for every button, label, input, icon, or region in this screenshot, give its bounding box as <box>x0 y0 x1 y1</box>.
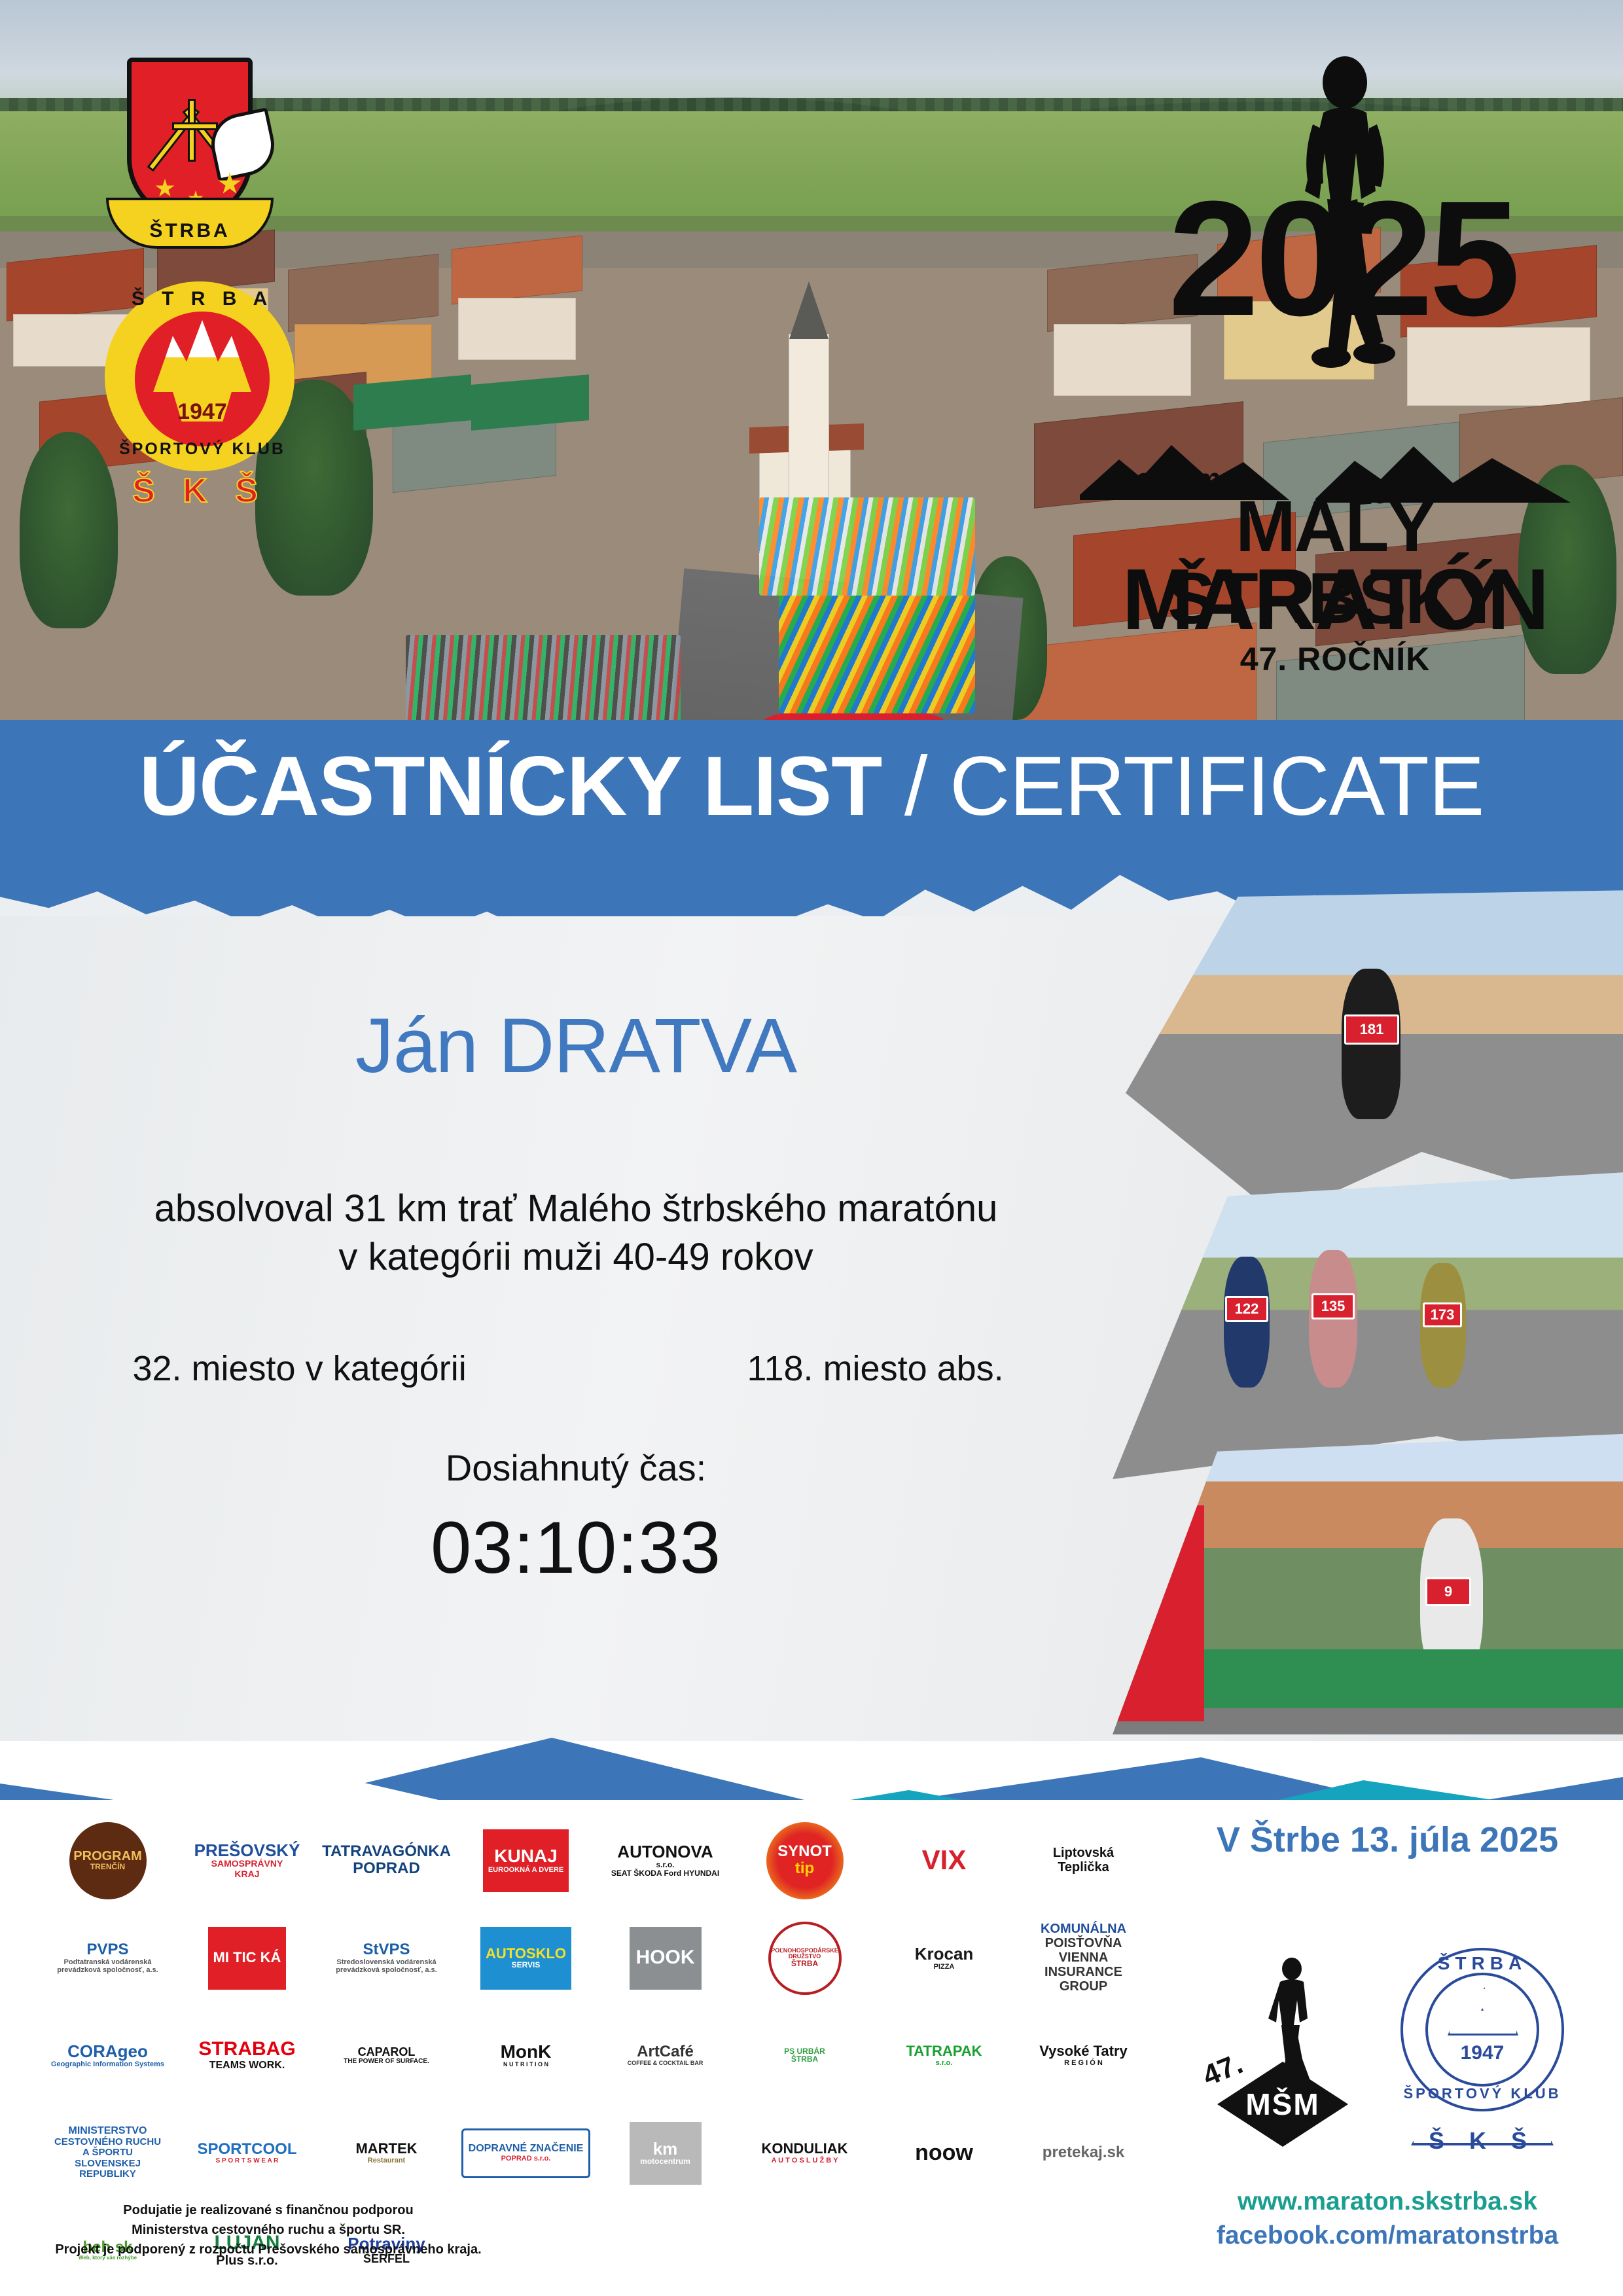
sponsor-name: VIX <box>922 1846 967 1874</box>
title-bold: ÚČASTNÍCKY LIST <box>139 740 882 833</box>
seal-mid-label: ŠPORTOVÝ KLUB <box>1387 2085 1577 2102</box>
sponsor-sub: ŠTRBA <box>791 1960 818 1968</box>
sponsor-sub: PIZZA <box>934 1963 955 1971</box>
event-title-line2: MARATÓN <box>1073 556 1597 643</box>
church-spire <box>789 281 829 339</box>
sponsor-sub: s.r.o. <box>936 2059 953 2067</box>
sponsor-mark: PVPSPodtatranská vodárenskáprevádzková s… <box>52 1938 163 1978</box>
bib-number: 122 <box>1225 1296 1268 1322</box>
place-absolute: 118. miesto abs. <box>599 1348 1152 1389</box>
sponsor-mark: MonKN U T R I T I O N <box>495 2039 557 2072</box>
event-year: 2025 <box>1084 177 1601 340</box>
sponsor-sub: motocentrum <box>640 2157 690 2166</box>
sponsor-name: km <box>653 2140 678 2158</box>
sponsor-logo-strabag: STRABAGTEAMS WORK. <box>179 2008 315 2103</box>
funding-credit: Podujatie je realizované s finančnou pod… <box>39 2200 497 2259</box>
sponsor-name: CORAgeo <box>67 2043 148 2060</box>
msm-edition: 47. <box>1198 2047 1247 2092</box>
sponsor-logo-ministerstvo: MINISTERSTVOCESTOVNÉHO RUCHUA ŠPORTUSLOV… <box>39 2106 176 2200</box>
title-separator: / <box>882 740 950 833</box>
sponsor-sub: POPRAD <box>353 1860 420 1877</box>
time-value: 03:10:33 <box>0 1505 1152 1590</box>
photo-collage: 181 122 135 173 MALÝ ŠTRBSKÝ MARATÓN 9 <box>1113 890 1623 1734</box>
sponsor-name: StVPS <box>363 1942 410 1958</box>
time-label: Dosiahnutý čas: <box>0 1446 1152 1489</box>
club-seal-logo: ŠTRBA 1947 ŠPORTOVÝ KLUB Š K Š <box>1387 1937 1577 2166</box>
cross-horizontal <box>172 122 218 130</box>
sponsor-sub: ŠTRBA <box>791 2055 818 2064</box>
sponsor-sub: THE POWER OF SURFACE. <box>344 2058 429 2065</box>
strba-coat-of-arms: ŠTRBA <box>105 46 275 262</box>
sponsor-mark: POĽNOHOSPODÁRSKE DRUŽSTVOŠTRBA <box>768 1922 842 1995</box>
sponsor-logo-presovsky-kraj: PREŠOVSKÝSAMOSPRÁVNYKRAJ <box>179 1813 315 1908</box>
msm-logo: 47. MŠM <box>1198 1944 1368 2166</box>
sponsor-mark: LiptovskáTeplička <box>1048 1842 1119 1878</box>
sponsor-sub: EUROOKNÁ A DVERE <box>488 1866 563 1874</box>
sponsor-mark: SPORTCOOLS P O R T S W E A R <box>192 2138 302 2168</box>
sponsor-mark: PS URBÁRŠTRBA <box>779 2043 830 2068</box>
sponsor-mark: Vysoké TatryR E G I Ó N <box>1034 2040 1133 2071</box>
sponsor-sub: Podtatranská vodárenská <box>64 1958 152 1966</box>
sponsor-mark: HOOK <box>630 1927 702 1990</box>
cross-vertical <box>188 99 196 162</box>
sponsor-footer: PROGRAMTRENČÍNPREŠOVSKÝSAMOSPRÁVNYKRAJTA… <box>0 1800 1623 2296</box>
sport-club-logo: Š T R B A 1947 ŠPORTOVÝ KLUB <box>105 281 294 471</box>
placement-row: 32. miesto v kategórii 118. miesto abs. <box>0 1348 1152 1389</box>
credit-line-2: Ministerstva cestovného ruchu a športu S… <box>39 2220 497 2240</box>
sponsor-logo-martek: MARTEKRestaurant <box>318 2106 455 2200</box>
sponsor-name: SYNOT <box>777 1844 832 1859</box>
sponsor-sub: N U T R I T I O N <box>503 2062 548 2068</box>
sponsor-sub2: VIENNA INSURANCE GROUP <box>1024 1950 1144 1994</box>
church-tower <box>789 334 829 511</box>
sponsor-mark: MARTEKRestaurant <box>350 2138 422 2168</box>
sponsor-name: Liptovská <box>1053 1846 1114 1859</box>
sponsor-name: MonK <box>501 2043 552 2062</box>
sponsor-mark: DOPRAVNÉ ZNAČENIEPOPRAD s.r.o. <box>461 2128 591 2178</box>
sponsor-mark: CAPAROLTHE POWER OF SURFACE. <box>338 2042 435 2069</box>
sponsor-sub: Teplička <box>1058 1860 1109 1874</box>
sponsor-name: PROGRAM <box>73 1850 141 1863</box>
sponsor-mark: SYNOTtip <box>766 1822 844 1899</box>
bib-number: 135 <box>1311 1293 1355 1319</box>
sponsor-mark: pretekaj.sk <box>1037 2141 1130 2164</box>
sponsor-logo-km-motocentrum: kmmotocentrum <box>597 2106 734 2200</box>
sponsor-sub: S P O R T S W E A R <box>216 2157 279 2164</box>
sponsor-name: KUNAJ <box>494 1847 557 1866</box>
seal-bottom-label: Š K Š <box>1387 2127 1577 2155</box>
page-title: ÚČASTNÍCKY LIST / CERTIFICATE <box>0 745 1623 829</box>
sponsor-logo-pd-strba: POĽNOHOSPODÁRSKE DRUŽSTVOŠTRBA <box>736 1910 873 2005</box>
sponsor-mark: PREŠOVSKÝSAMOSPRÁVNYKRAJ <box>189 1838 306 1883</box>
sponsor-sub: tip <box>795 1860 814 1877</box>
sponsor-mark: StVPSStredoslovenská vodárenskáprevádzko… <box>330 1938 442 1978</box>
sponsor-sub: A U T O S L U Ž B Y <box>772 2157 838 2164</box>
sponsor-logo-miticka: MI TIC KÁ <box>179 1910 315 2005</box>
sponsor-logo-caparol: CAPAROLTHE POWER OF SURFACE. <box>318 2008 455 2103</box>
description-line-1: absolvoval 31 km trať Malého štrbského m… <box>0 1185 1152 1233</box>
sponsor-logo-pvps: PVPSPodtatranská vodárenskáprevádzková s… <box>39 1910 176 2005</box>
seal-top-label: ŠTRBA <box>1387 1953 1577 1974</box>
sponsor-sub: COFFEE & COCKTAIL BAR <box>628 2060 704 2067</box>
sponsor-sub: s.r.o. <box>656 1861 674 1869</box>
sponsor-logo-vix: VIX <box>876 1813 1012 1908</box>
sponsor-name: CAPAROL <box>358 2046 416 2058</box>
sponsor-sub: SERVIS <box>512 1961 541 1969</box>
sponsor-sub2: KRAJ <box>234 1869 259 1879</box>
sponsor-name: MARTEK <box>355 2142 417 2156</box>
credit-line-3: Projekt je podporený z rozpočtu Prešovsk… <box>39 2240 497 2259</box>
title-light: CERTIFICATE <box>950 740 1484 833</box>
sponsor-sub2: A ŠPORTU <box>82 2147 133 2159</box>
sponsor-mark: TATRAPAKs.r.o. <box>901 2040 987 2071</box>
sponsor-sub: TRENČÍN <box>90 1863 125 1871</box>
sponsor-sub: POPRAD s.r.o. <box>501 2155 551 2162</box>
arm-holding <box>205 107 280 182</box>
sponsor-mark: AUTOSKLOSERVIS <box>480 1927 571 1990</box>
title-band: ÚČASTNÍCKY LIST / CERTIFICATE <box>0 720 1623 916</box>
sponsor-logo-hook: HOOK <box>597 1910 734 2005</box>
sponsor-name: PREŠOVSKÝ <box>194 1842 300 1859</box>
sponsor-logo-artcafe: ArtCaféCOFFEE & COCKTAIL BAR <box>597 2008 734 2103</box>
sponsor-logo-pretekaj: pretekaj.sk <box>1015 2106 1152 2200</box>
sponsor-mark: KONDULIAKA U T O S L U Ž B Y <box>757 2138 853 2168</box>
sponsor-name: TATRAPAK <box>906 2044 982 2058</box>
sponsor-mark: kmmotocentrum <box>630 2122 702 2185</box>
sponsor-logo-stvps: StVPSStredoslovenská vodárenskáprevádzko… <box>318 1910 455 2005</box>
sponsor-name: noow <box>915 2142 973 2164</box>
sponsor-name: PVPS <box>86 1942 128 1958</box>
sponsor-sub: SAMOSPRÁVNY <box>211 1859 283 1869</box>
sponsor-logo-ps-urbar-strba: PS URBÁRŠTRBA <box>736 2008 873 2103</box>
sponsor-logo-tatravagonka-poprad: TATRAVAGÓNKAPOPRAD <box>318 1813 455 1908</box>
sponsor-logo-vysoke-tatry: Vysoké TatryR E G I Ó N <box>1015 2008 1152 2103</box>
sponsor-name: Krocan <box>915 1945 974 1963</box>
bib-number: 9 <box>1425 1577 1471 1606</box>
facebook-link[interactable]: facebook.com/maratonstrba <box>1171 2221 1603 2250</box>
sponsor-name: DOPRAVNÉ ZNAČENIE <box>469 2144 584 2154</box>
photo-finisher-jump: 181 <box>1126 890 1623 1217</box>
sponsor-logo-monk-nutrition: MonKN U T R I T I O N <box>457 2008 594 2103</box>
sponsor-logo-kunaj: KUNAJEUROOKNÁ A DVERE <box>457 1813 594 1908</box>
sponsor-mark: TATRAVAGÓNKAPOPRAD <box>321 1840 452 1881</box>
msm-abbrev: MŠM <box>1245 2087 1319 2122</box>
sponsor-logo-krocan-pizza: KrocanPIZZA <box>876 1910 1012 2005</box>
bib-number: 173 <box>1423 1302 1462 1327</box>
sponsor-mark: MINISTERSTVOCESTOVNÉHO RUCHUA ŠPORTUSLOV… <box>43 2122 173 2183</box>
sponsor-name: Vysoké Tatry <box>1039 2044 1128 2058</box>
footer-right-column: V Štrbe 13. júla 2025 47. MŠM ŠTRBA <box>1171 1813 1603 2284</box>
sponsor-name: MINISTERSTVO <box>68 2126 147 2136</box>
sponsor-logo-program-trencin: PROGRAMTRENČÍN <box>39 1813 176 1908</box>
certificate-page: ŠTART ŠTRBA Š <box>0 0 1623 2296</box>
sponsor-name: MI TIC KÁ <box>213 1950 281 1965</box>
club-year: 1947 <box>107 399 297 425</box>
photo-runners-group: 122 135 173 <box>1113 1172 1623 1479</box>
sponsor-logo-sportcool: SPORTCOOLS P O R T S W E A R <box>179 2106 315 2200</box>
sponsor-sub: R E G I Ó N <box>1064 2059 1103 2067</box>
sponsor-name: POĽNOHOSPODÁRSKE DRUŽSTVO <box>771 1948 838 1960</box>
club-bottom-label: ŠPORTOVÝ KLUB <box>107 440 297 459</box>
sponsor-logo-autonova: AUTONOVAs.r.o.SEAT ŠKODA Ford HYUNDAI <box>597 1813 734 1908</box>
star-icon <box>155 179 175 198</box>
sponsor-sub: Restaurant <box>368 2157 405 2164</box>
sponsor-name: AUTOSKLO <box>486 1946 566 1961</box>
sponsor-mark: KOMUNÁLNAPOISŤOVŇAVIENNA INSURANCE GROUP <box>1018 1918 1149 1997</box>
sponsor-name: pretekaj.sk <box>1043 2145 1124 2161</box>
sponsor-logo-autosklo-servis: AUTOSKLOSERVIS <box>457 1910 594 2005</box>
sponsor-mark: CORAgeoGeographic Information Systems <box>46 2039 169 2072</box>
sponsor-sub2: prevádzková spoločnosť, a.s. <box>57 1966 158 1974</box>
sponsor-mark: MI TIC KÁ <box>208 1927 287 1990</box>
place-in-category: 32. miesto v kategórii <box>0 1348 599 1389</box>
sponsor-sub: Stredoslovenská vodárenská <box>336 1958 436 1966</box>
event-edition: 47. ROČNÍK <box>1073 640 1597 678</box>
sponsor-name: ArtCafé <box>637 2044 694 2060</box>
sponsor-mark: VIX <box>917 1842 972 1878</box>
sponsor-sub: Geographic Information Systems <box>51 2060 164 2068</box>
sponsor-logo-corageo: CORAgeoGeographic Information Systems <box>39 2008 176 2103</box>
sponsor-logo-konduliak: KONDULIAKA U T O S L U Ž B Y <box>736 2106 873 2200</box>
sponsor-sub3: SLOVENSKEJ REPUBLIKY <box>48 2159 168 2180</box>
sponsor-sub: TEAMS WORK. <box>209 2060 285 2072</box>
sponsor-mark: AUTONOVAs.r.o.SEAT ŠKODA Ford HYUNDAI <box>606 1839 724 1882</box>
coa-label: ŠTRBA <box>109 220 271 242</box>
description-line-2: v kategórii muži 40-49 rokov <box>0 1233 1152 1282</box>
shield <box>127 58 253 221</box>
sponsor-mark: noow <box>910 2138 978 2168</box>
sponsor-name: STRABAG <box>198 2039 295 2060</box>
sponsor-name: AUTONOVA <box>617 1843 713 1861</box>
sponsor-name: HOOK <box>636 1948 695 1968</box>
sponsor-logo-dopravne-znacenie: DOPRAVNÉ ZNAČENIEPOPRAD s.r.o. <box>457 2106 594 2200</box>
seal-year: 1947 <box>1387 2042 1577 2064</box>
sponsor-mark: KrocanPIZZA <box>910 1941 979 1975</box>
sponsor-logo-komunalna-poistovna: KOMUNÁLNAPOISŤOVŇAVIENNA INSURANCE GROUP <box>1015 1910 1152 2005</box>
recipient-name: Ján DRATVA <box>0 1001 1152 1090</box>
credit-line-1: Podujatie je realizované s finančnou pod… <box>39 2200 497 2220</box>
club-top-label: Š T R B A <box>107 288 297 310</box>
sponsor-name: SPORTCOOL <box>197 2142 296 2157</box>
sponsor-sub2: SEAT ŠKODA Ford HYUNDAI <box>611 1869 719 1878</box>
sponsor-mark: KUNAJEUROOKNÁ A DVERE <box>483 1829 569 1892</box>
sponsor-sub: POISŤOVŇA <box>1045 1936 1122 1950</box>
sponsor-mark: ArtCaféCOFFEE & COCKTAIL BAR <box>622 2040 709 2070</box>
event-lockup: 2025 31 km 10 km MALÝ ŠTRBSKÝ MARATÓN 47… <box>1073 39 1597 615</box>
sponsor-sub: CESTOVNÉHO RUCHU <box>54 2137 161 2148</box>
sponsor-logo-synottip: SYNOTtip <box>736 1813 873 1908</box>
bib-number: 181 <box>1344 1014 1399 1045</box>
sponsor-logo-liptovska-teplicka: LiptovskáTeplička <box>1015 1813 1152 1908</box>
sponsor-name: KONDULIAK <box>762 2142 848 2156</box>
sponsor-logo-noow: noow <box>876 2106 1012 2200</box>
sponsor-name: TATRAVAGÓNKA <box>322 1844 451 1859</box>
sponsor-logo-tatrapak: TATRAPAKs.r.o. <box>876 2008 1012 2103</box>
certificate-description: absolvoval 31 km trať Malého štrbského m… <box>0 1185 1152 1282</box>
website-link[interactable]: www.maraton.skstrba.sk <box>1171 2187 1603 2216</box>
sponsor-name: KOMUNÁLNA <box>1041 1922 1126 1935</box>
sponsor-mark: PROGRAMTRENČÍN <box>69 1822 147 1899</box>
ribbon: ŠTRBA <box>106 198 274 249</box>
sponsor-sub2: prevádzková spoločnosť, a.s. <box>336 1966 437 1974</box>
sponsor-mark: STRABAGTEAMS WORK. <box>193 2036 300 2075</box>
event-date: V Štrbe 13. júla 2025 <box>1171 1820 1603 1860</box>
sks-abbrev: Š K Š <box>105 471 294 511</box>
sponsor-grid: PROGRAMTRENČÍNPREŠOVSKÝSAMOSPRÁVNYKRAJTA… <box>39 1813 1152 2206</box>
hero-photo: ŠTART ŠTRBA Š <box>0 0 1623 733</box>
